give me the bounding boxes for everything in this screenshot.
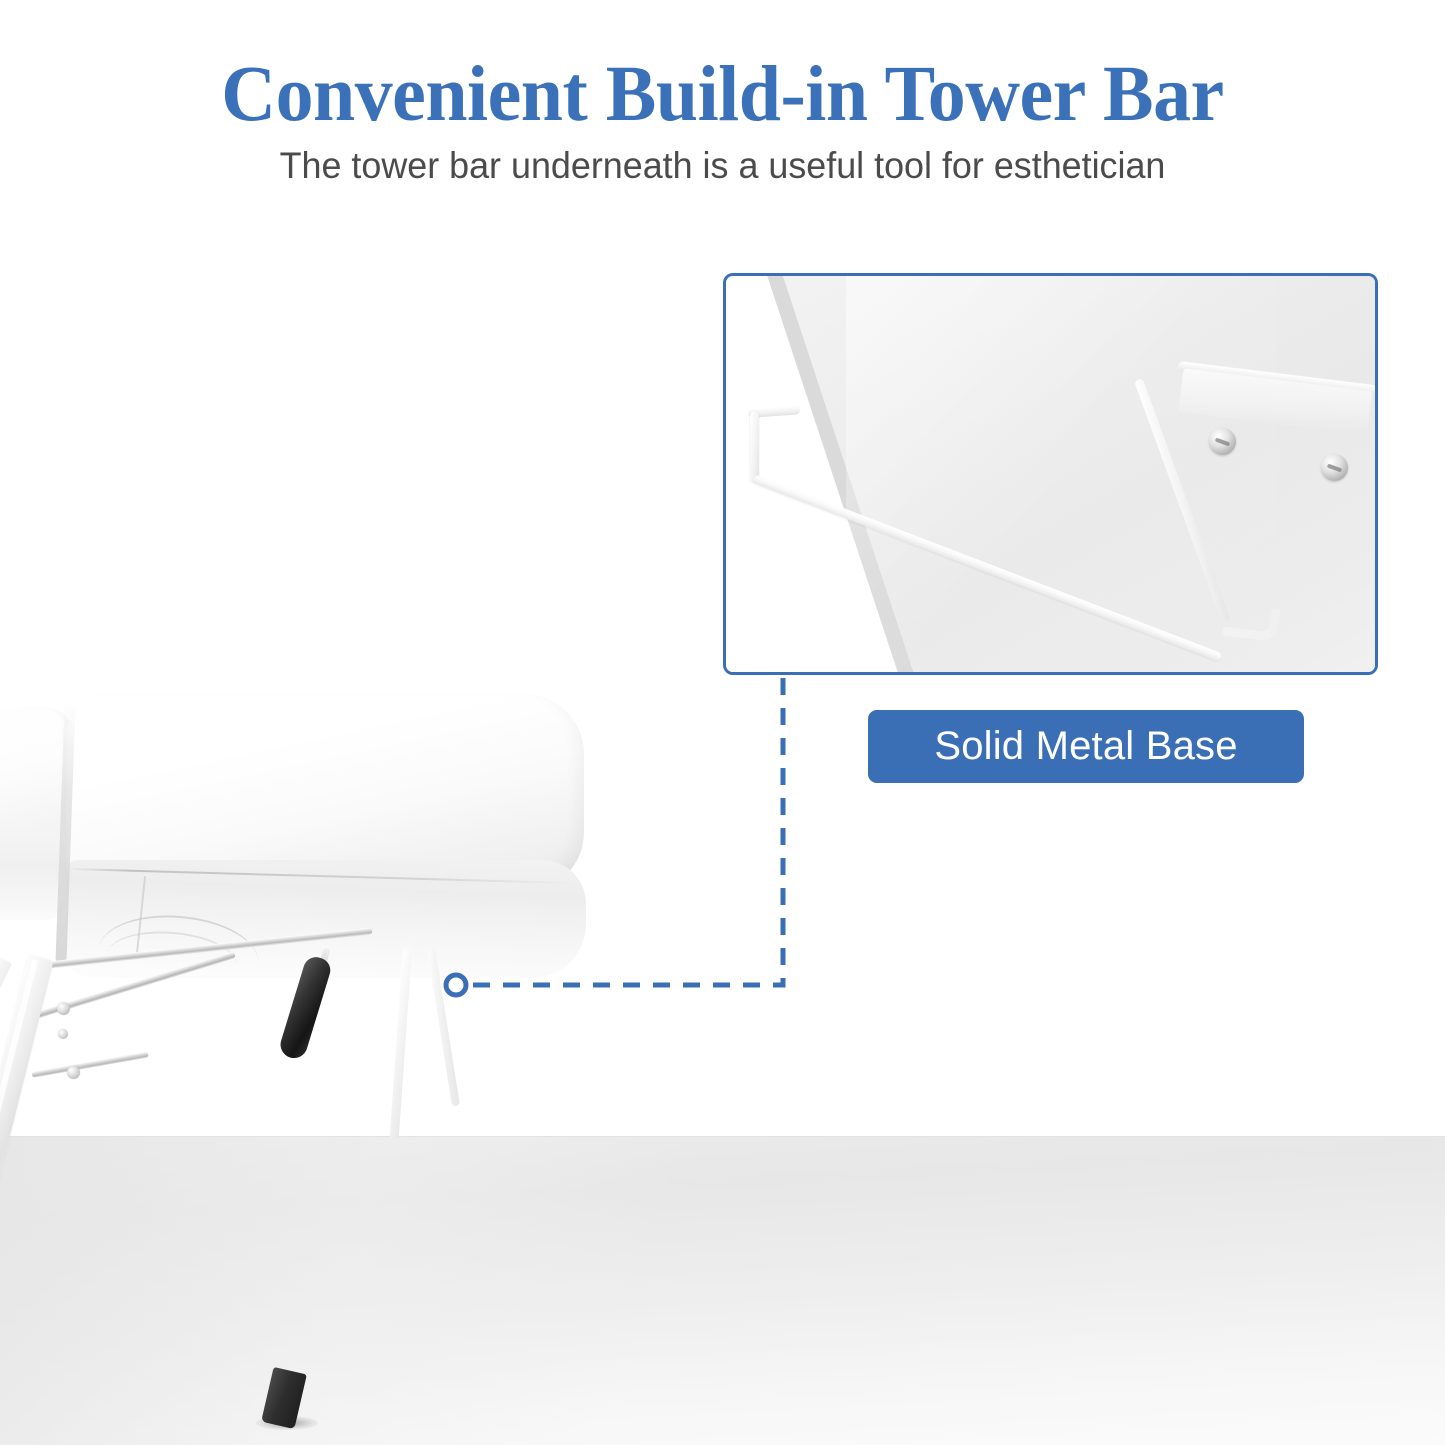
frame-bolt: [67, 1066, 80, 1079]
panel-sheen: [846, 276, 1276, 675]
frame-bolt: [57, 1002, 70, 1015]
detail-photo: [726, 276, 1375, 672]
detail-inset-panel: [723, 273, 1378, 675]
chrome-cross-brace: [31, 1052, 148, 1078]
tower-bar-left-hook: [750, 411, 759, 483]
badge-label: Solid Metal Base: [934, 724, 1237, 769]
page-title: Convenient Build-in Tower Bar: [29, 52, 1416, 138]
tower-bar-corner: [1222, 603, 1281, 642]
product-photo: [0, 680, 660, 1445]
main-frame-leg: [0, 955, 54, 1386]
promo-page: Convenient Build-in Tower Bar The tower …: [0, 0, 1445, 1445]
page-subtitle: The tower bar underneath is a useful too…: [22, 142, 1424, 190]
frame-bolt: [58, 1029, 68, 1039]
status-badge: Solid Metal Base: [868, 710, 1304, 783]
